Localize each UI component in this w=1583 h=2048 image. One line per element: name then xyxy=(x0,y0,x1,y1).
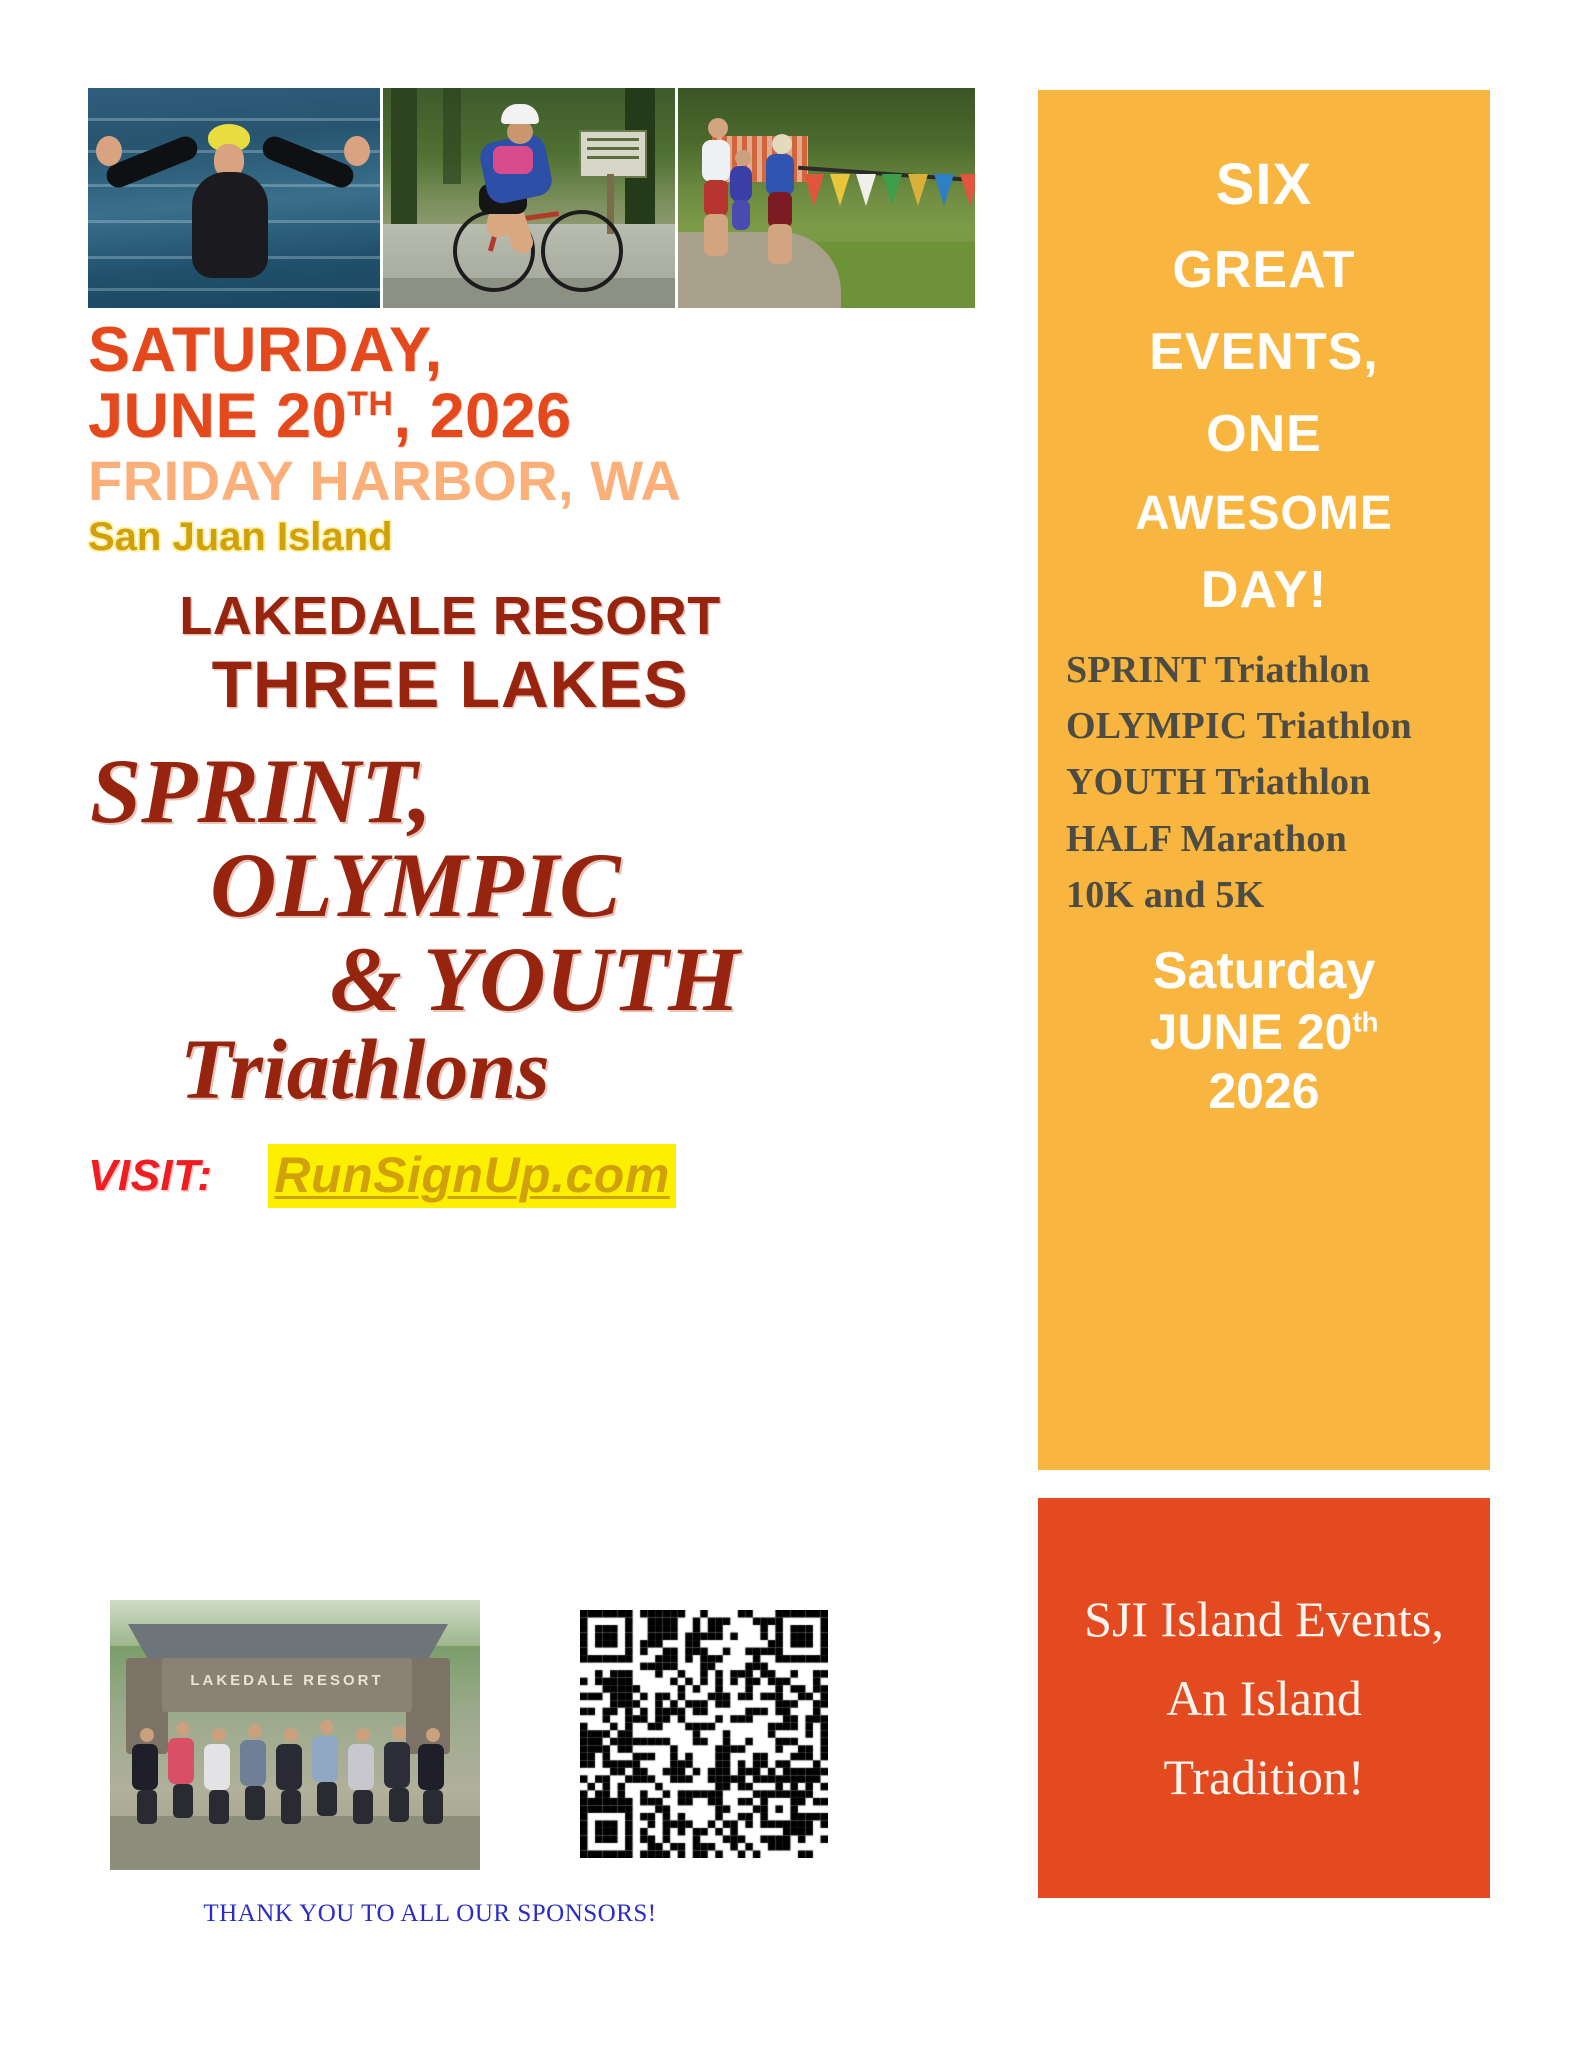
venue-line-1: LAKEDALE RESORT xyxy=(0,588,900,645)
left-column: SATURDAY, JUNE 20TH, 2026 FRIDAY HARBOR,… xyxy=(0,318,1000,1208)
visit-label: VISIT: xyxy=(88,1151,212,1201)
organizer-badge: SJI Island Events, An Island Tradition! xyxy=(1038,1498,1490,1898)
headline-line-1: SPRINT, xyxy=(0,745,940,839)
event-list-item: OLYMPIC Triathlon xyxy=(1066,698,1490,754)
organizer-line-3: Tradition! xyxy=(1164,1738,1365,1817)
date-line-2-prefix: JUNE 20 xyxy=(88,381,347,451)
sidebar-date: JUNE 20th xyxy=(1038,1003,1490,1062)
sidebar-year: 2026 xyxy=(1038,1062,1490,1121)
resort-sign-text: LAKEDALE RESORT xyxy=(172,1672,402,1689)
registration-link[interactable]: RunSignUp.com xyxy=(268,1144,675,1208)
event-list-item: SPRINT Triathlon xyxy=(1066,642,1490,698)
event-list-item: 10K and 5K xyxy=(1066,867,1490,923)
photo-strip xyxy=(88,88,978,308)
hero-line-2: GREAT xyxy=(1060,244,1468,296)
headline-block: SPRINT, OLYMPIC & YOUTH Triathlons xyxy=(0,745,940,1114)
headline-line-4: Triathlons xyxy=(0,1026,940,1114)
date-line-1: SATURDAY, xyxy=(88,315,443,385)
event-list-item: YOUTH Triathlon xyxy=(1066,754,1490,810)
hero-line-3: EVENTS, xyxy=(1060,326,1468,378)
hero-line-1: SIX xyxy=(1060,156,1468,214)
sidebar-day: Saturday xyxy=(1038,941,1490,1002)
bottom-media-row: LAKEDALE RESORT xyxy=(110,1600,910,1870)
organizer-line-2: An Island xyxy=(1166,1659,1362,1738)
headline-line-3: & YOUTH xyxy=(0,933,940,1027)
island-line: San Juan Island xyxy=(88,516,1000,558)
headline-line-2: OLYMPIC xyxy=(0,839,940,933)
sidebar-date-block: Saturday JUNE 20th 2026 xyxy=(1038,941,1490,1120)
hero-line-4: ONE xyxy=(1060,408,1468,460)
date-line-2-suffix: , 2026 xyxy=(393,381,571,451)
sidebar-date-ordinal: th xyxy=(1352,1006,1378,1037)
runners-photo xyxy=(678,88,975,308)
event-date-line: SATURDAY, JUNE 20TH, 2026 xyxy=(88,318,1000,449)
event-list-item: HALF Marathon xyxy=(1066,811,1490,867)
venue-line-2: THREE LAKES xyxy=(0,650,900,719)
date-ordinal-suffix: TH xyxy=(347,385,393,423)
events-sidebar: SIX GREAT EVENTS, ONE AWESOME DAY! SPRIN… xyxy=(1038,90,1490,1470)
sidebar-date-text: JUNE 20 xyxy=(1150,1004,1353,1060)
visit-row: VISIT: RunSignUp.com xyxy=(88,1144,1000,1208)
hero-line-6: DAY! xyxy=(1060,564,1468,616)
city-line: FRIDAY HARBOR, WA xyxy=(88,451,1000,510)
organizer-line-1: SJI Island Events, xyxy=(1084,1580,1444,1659)
trail-sign-icon xyxy=(579,130,647,178)
qr-code[interactable] xyxy=(580,1610,828,1858)
event-list: SPRINT Triathlon OLYMPIC Triathlon YOUTH… xyxy=(1038,638,1490,923)
hero-line-5: AWESOME xyxy=(1060,490,1468,538)
sidebar-hero: SIX GREAT EVENTS, ONE AWESOME DAY! xyxy=(1038,90,1490,616)
group-photo: LAKEDALE RESORT xyxy=(110,1600,480,1870)
flyer-page: SATURDAY, JUNE 20TH, 2026 FRIDAY HARBOR,… xyxy=(0,0,1583,2048)
sponsors-thankyou: THANK YOU TO ALL OUR SPONSORS! xyxy=(0,1900,860,1928)
swimmer-photo xyxy=(88,88,380,308)
cyclist-photo xyxy=(383,88,675,308)
